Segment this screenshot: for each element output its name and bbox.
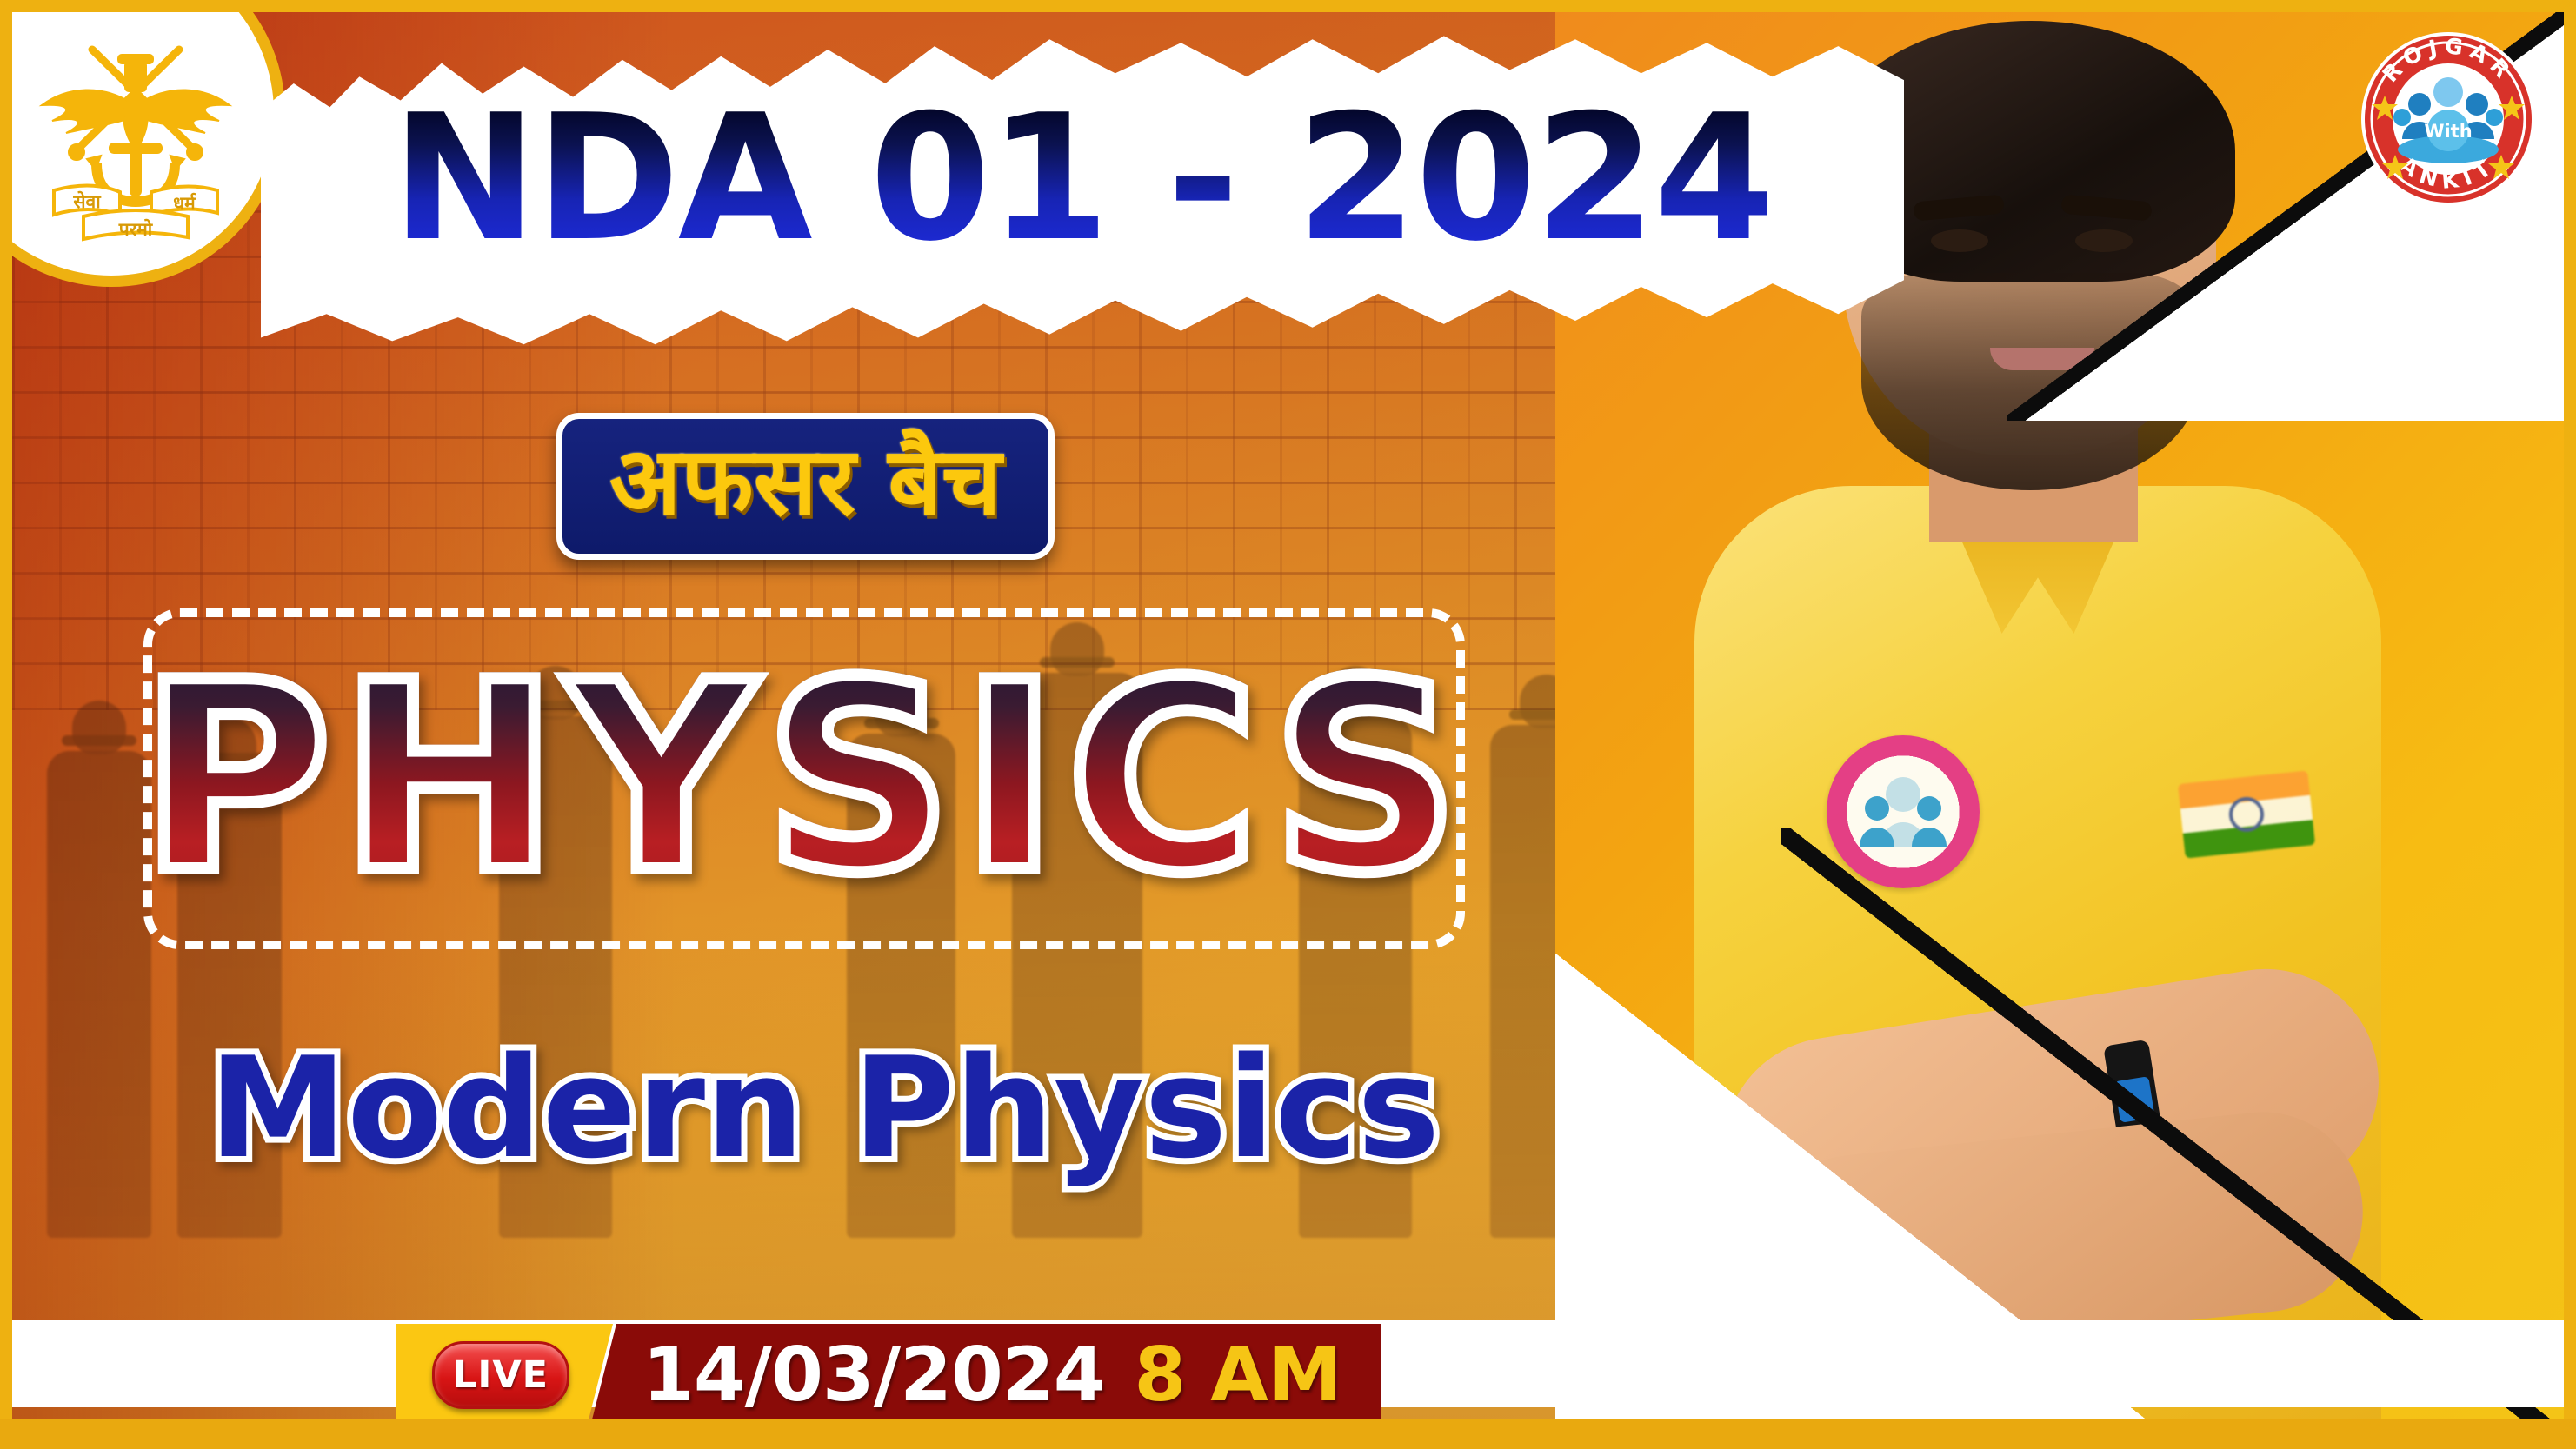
session-time: 8 AM bbox=[1135, 1338, 1341, 1412]
live-badge-icon: LIVE bbox=[432, 1341, 569, 1409]
session-date: 14/03/2024 bbox=[642, 1338, 1105, 1412]
poster-canvas: सेवा धर्म परमो NDA 01 - 2024 अफसर बैच PH… bbox=[0, 0, 2576, 1449]
subject-label: PHYSICS bbox=[140, 648, 1468, 909]
live-schedule-bar: LIVE 14/03/2024 8 AM bbox=[396, 1324, 1381, 1426]
emblem-motto-left: सेवा bbox=[72, 190, 102, 212]
live-badge-holder: LIVE bbox=[396, 1324, 613, 1426]
tri-services-emblem-svg: सेवा धर्म परमो bbox=[23, 20, 249, 246]
topic-label: Modern Physics bbox=[209, 1039, 1440, 1178]
subject-box: PHYSICS bbox=[143, 608, 1465, 949]
rojgar-with-ankit-logo-icon: With ROJGAR ANKIT bbox=[2357, 28, 2539, 210]
nda-crest-icon: सेवा धर्म परमो bbox=[0, 0, 285, 287]
schedule-band: 14/03/2024 8 AM bbox=[590, 1324, 1381, 1426]
emblem-motto-right: धर्म bbox=[173, 192, 196, 214]
live-label: LIVE bbox=[453, 1353, 549, 1397]
batch-badge-label: अफसर बैच bbox=[609, 433, 1002, 531]
title-banner: NDA 01 - 2024 bbox=[261, 16, 1904, 355]
logo-center-label: With bbox=[2424, 121, 2472, 142]
rojgar-logo-svg: With ROJGAR ANKIT bbox=[2357, 28, 2539, 210]
page-title: NDA 01 - 2024 bbox=[261, 92, 1904, 266]
emblem-motto-bottom: परमो bbox=[118, 218, 154, 240]
presenter-eye-left bbox=[1931, 229, 1988, 252]
poster-border-bottom bbox=[0, 1419, 2576, 1449]
batch-badge: अफसर बैच bbox=[556, 413, 1055, 560]
